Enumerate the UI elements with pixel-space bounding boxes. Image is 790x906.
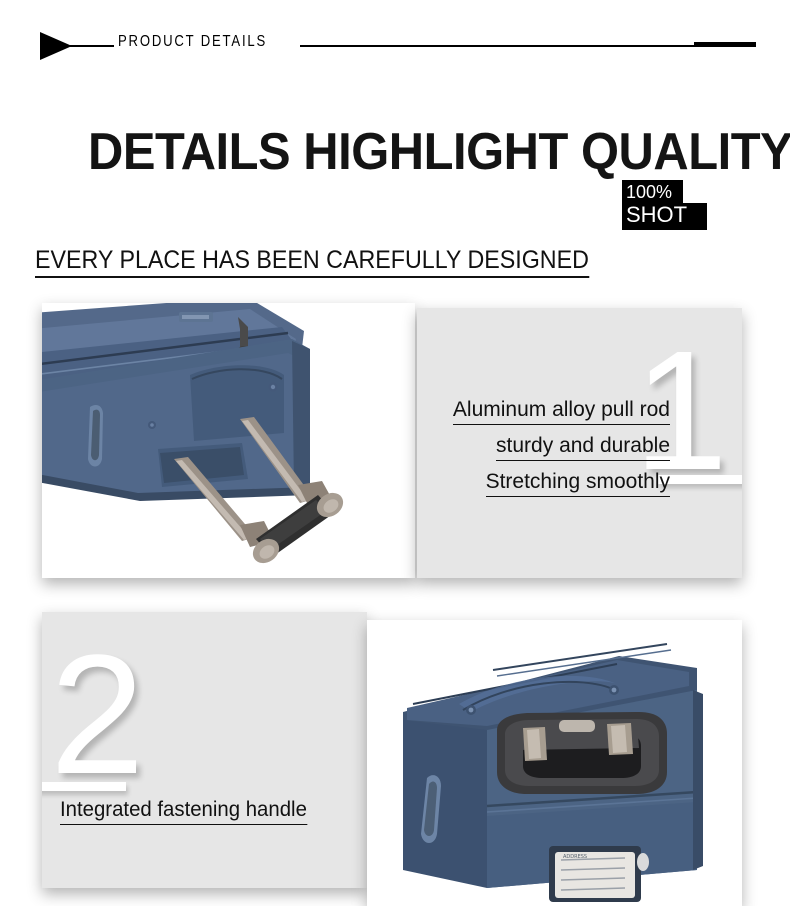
status-badge: 100% SHOT [622,180,707,230]
feature-1-caption-line-1: Aluminum alloy pull rod [453,398,670,425]
page-header: PRODUCT DETAILS [0,0,790,100]
feature-2-text-panel: 2 [42,612,367,888]
header-rule-right [300,45,695,47]
play-triangle-icon [40,32,72,60]
blue-suitcase-pull-rod-image [42,303,415,578]
badge-percent: 100% [622,180,683,203]
badge-shot: SHOT [622,203,707,230]
feature-1-numeral-bar [658,475,742,484]
header-label: PRODUCT DETAILS [118,33,267,51]
page-subtitle: EVERY PLACE HAS BEEN CAREFULLY DESIGNED [35,247,589,278]
header-rule-left [70,45,114,47]
svg-text:ADDRESS: ADDRESS [563,854,587,860]
feature-2-numeral-bar [42,782,126,791]
feature-2-caption: Integrated fastening handle [60,798,307,825]
feature-1-photo-panel [42,303,415,578]
blue-suitcase-handle-image: ADDRESS [367,620,742,906]
feature-2-photo-panel: ADDRESS [367,620,742,906]
feature-1-caption: Aluminum alloy pull rod sturdy and durab… [425,398,670,506]
header-rule-cap [694,42,756,47]
feature-1-caption-line-3: Stretching smoothly [486,470,670,497]
feature-1-caption-line-2: sturdy and durable [496,434,670,461]
feature-2-numeral: 2 [50,630,145,800]
page-title: DETAILS HIGHLIGHT QUALITY [88,126,790,178]
